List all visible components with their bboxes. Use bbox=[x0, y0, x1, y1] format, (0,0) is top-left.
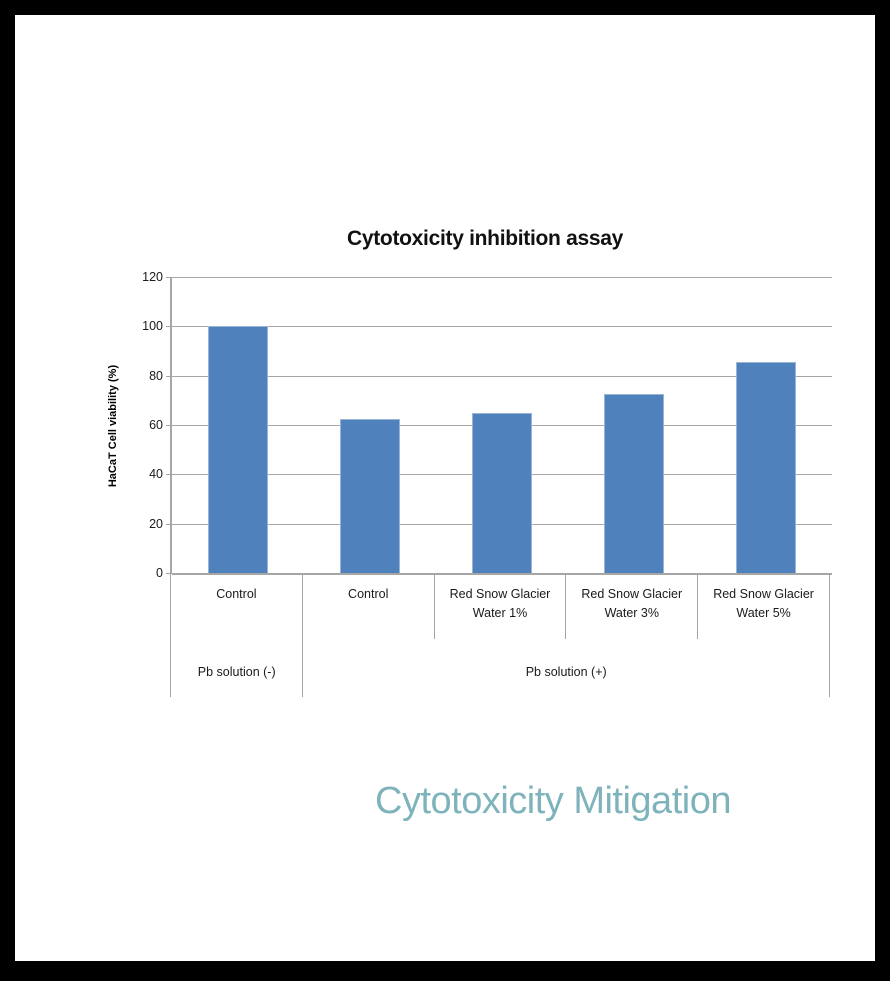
bar-slot bbox=[304, 277, 436, 573]
slide-frame: Cytotoxicity inhibition assay HaCaT Cell… bbox=[0, 0, 890, 981]
y-tick-label-120: 120 bbox=[121, 270, 163, 284]
y-tick-label-80: 80 bbox=[121, 369, 163, 383]
category-axis: ControlControlRed Snow GlacierWater 1%Re… bbox=[170, 573, 830, 697]
bar[interactable] bbox=[340, 419, 399, 573]
plot-area: 020406080100120 bbox=[170, 277, 830, 573]
y-tick-label-20: 20 bbox=[121, 517, 163, 531]
y-tick-label-0: 0 bbox=[121, 566, 163, 580]
bar[interactable] bbox=[604, 394, 663, 573]
bar[interactable] bbox=[472, 413, 531, 573]
slide-caption: Cytotoxicity Mitigation bbox=[375, 780, 845, 823]
bar-slot bbox=[700, 277, 832, 573]
category-label-line: Red Snow Glacier bbox=[698, 585, 829, 604]
slide-page: Cytotoxicity inhibition assay HaCaT Cell… bbox=[15, 15, 875, 961]
category-label: Red Snow GlacierWater 3% bbox=[566, 573, 698, 639]
group-label: Pb solution (+) bbox=[303, 639, 829, 697]
y-tick-label-40: 40 bbox=[121, 467, 163, 481]
category-label: Red Snow GlacierWater 5% bbox=[698, 573, 829, 639]
category-label-line: Control bbox=[171, 585, 302, 604]
category-label-line: Water 3% bbox=[566, 604, 697, 623]
y-axis-title: HaCaT Cell viability (%) bbox=[107, 341, 119, 511]
bar[interactable] bbox=[736, 362, 795, 573]
group-label: Pb solution (-) bbox=[171, 639, 303, 697]
category-label: Control bbox=[303, 573, 435, 639]
category-label: Control bbox=[171, 573, 303, 639]
bar-slot bbox=[172, 277, 304, 573]
chart-title: Cytotoxicity inhibition assay bbox=[155, 227, 815, 251]
category-row-labels: ControlControlRed Snow GlacierWater 1%Re… bbox=[170, 573, 830, 639]
bar-slot bbox=[436, 277, 568, 573]
bar-chart: Cytotoxicity inhibition assay HaCaT Cell… bbox=[75, 215, 845, 715]
category-row-groups: Pb solution (-)Pb solution (+) bbox=[170, 639, 830, 697]
bars-layer bbox=[172, 277, 832, 573]
category-label-line: Water 1% bbox=[435, 604, 566, 623]
y-tick-label-100: 100 bbox=[121, 319, 163, 333]
bar-slot bbox=[568, 277, 700, 573]
category-label: Red Snow GlacierWater 1% bbox=[435, 573, 567, 639]
category-label-line: Water 5% bbox=[698, 604, 829, 623]
category-label-line: Red Snow Glacier bbox=[435, 585, 566, 604]
category-label-line: Red Snow Glacier bbox=[566, 585, 697, 604]
bar[interactable] bbox=[208, 326, 267, 573]
y-tick-label-60: 60 bbox=[121, 418, 163, 432]
category-label-line: Control bbox=[303, 585, 434, 604]
